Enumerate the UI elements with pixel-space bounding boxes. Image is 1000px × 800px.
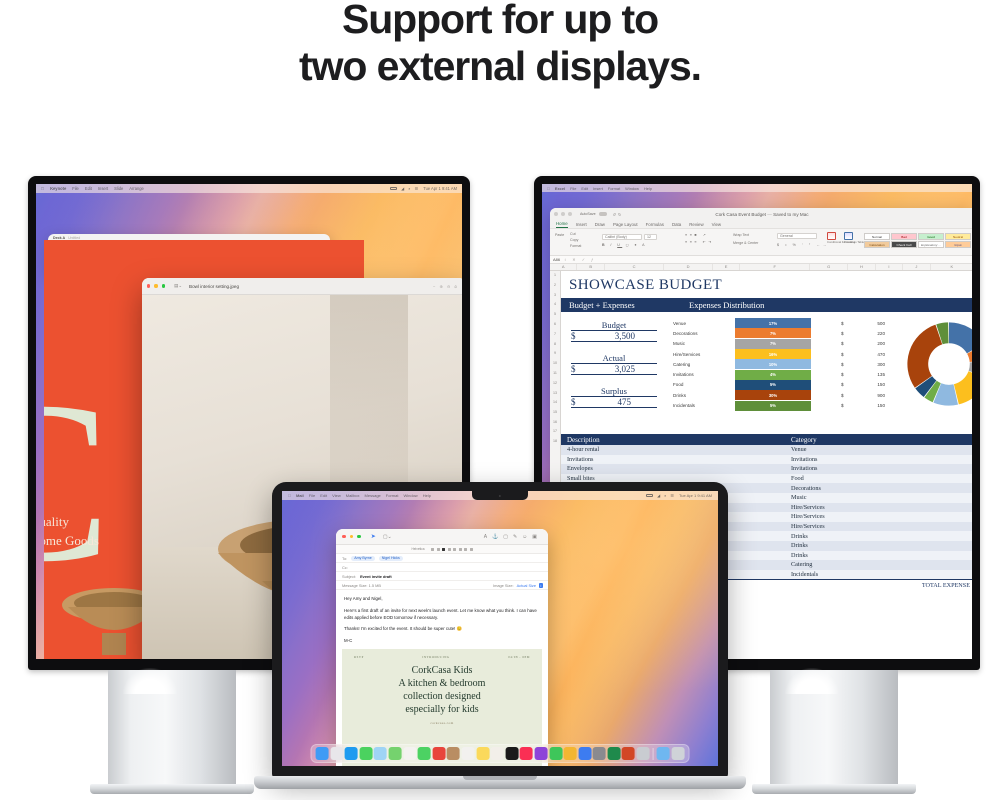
- invite-title-line-1: CorkCasa Kids: [342, 664, 542, 677]
- row-header-8[interactable]: 8: [550, 340, 560, 350]
- cell-style-input[interactable]: Input: [945, 241, 971, 248]
- menu-item-help[interactable]: Help: [644, 186, 652, 191]
- battery-icon[interactable]: [646, 494, 653, 498]
- column-header-k[interactable]: K: [931, 264, 972, 270]
- distribution-bar: 4%: [735, 370, 811, 380]
- menu-item-window[interactable]: Window: [625, 186, 639, 191]
- cell-category: Drinks: [791, 542, 972, 549]
- distribution-bar: 10%: [735, 359, 811, 369]
- row-header-18[interactable]: 18: [550, 437, 560, 447]
- distribution-category-label: Drinks: [673, 393, 735, 398]
- calendar-icon[interactable]: [432, 747, 445, 760]
- minimize-icon[interactable]: [561, 212, 565, 216]
- wifi-icon[interactable]: ◢: [401, 186, 404, 191]
- menu-item-message[interactable]: Message: [365, 493, 381, 498]
- table-header-row: Description Category: [561, 434, 972, 445]
- actual-currency: $: [571, 364, 576, 374]
- mail-size-row: Message Size: 1.5 MB Image Size: Actual …: [336, 581, 548, 590]
- preview-toolbar-icons[interactable]: −⊕⊖⍝: [433, 284, 461, 289]
- wifi-icon[interactable]: ◢: [657, 493, 660, 498]
- invite-title-line-2: A kitchen & bedroom: [342, 677, 542, 690]
- cell-category: Hire/Services: [791, 523, 972, 530]
- maps-icon[interactable]: [389, 747, 402, 760]
- mail-closing: Thanks! I'm excited for the event. It sh…: [344, 626, 540, 633]
- row-header-14[interactable]: 14: [550, 398, 560, 408]
- conditional-formatting-icon[interactable]: [827, 232, 836, 240]
- maximize-icon[interactable]: [162, 284, 165, 287]
- column-header-g[interactable]: G: [810, 264, 848, 270]
- column-headers[interactable]: A B C D E F G H I J K: [550, 264, 972, 271]
- column-header-i[interactable]: I: [876, 264, 903, 270]
- band-budget-expenses: Budget + Expenses: [569, 300, 689, 310]
- actual-value-row[interactable]: $ 3,025: [571, 364, 657, 375]
- budget-currency: $: [571, 331, 576, 341]
- distribution-amount: $470: [841, 352, 885, 357]
- cell-style-bad[interactable]: Bad: [891, 233, 917, 240]
- invite-url: corkcasa.com: [342, 721, 542, 725]
- distribution-amount: $150: [841, 382, 885, 387]
- column-category: Category: [791, 436, 972, 444]
- menu-item-format[interactable]: Format: [608, 186, 620, 191]
- distribution-category-label: Hire/Services: [673, 352, 735, 357]
- tab-page-layout[interactable]: Page Layout: [613, 222, 638, 227]
- quick-access-toolbar[interactable]: AutoSave ↺↻: [550, 212, 623, 217]
- mail-greeting: Hey Amy and Nigel,: [344, 596, 540, 603]
- font-select[interactable]: Helvetica: [411, 547, 424, 551]
- conditional-formatting-label[interactable]: Conditional Formatting: [827, 241, 841, 244]
- sidebar-icon[interactable]: ▤⌄: [174, 283, 182, 289]
- text-color-icon[interactable]: [442, 548, 445, 551]
- table-row[interactable]: InvitationsInvitations: [561, 455, 972, 465]
- menu-item-app[interactable]: Keynote: [50, 186, 66, 191]
- cell-category: Food: [791, 475, 972, 482]
- copy-label[interactable]: Copy: [570, 238, 581, 242]
- menu-item-edit[interactable]: Edit: [320, 493, 327, 498]
- image-size-stepper[interactable]: ↕: [539, 583, 543, 588]
- poster-tagline-line-2: Home Goods: [44, 532, 99, 551]
- dock-separator: [653, 748, 654, 760]
- distribution-row: Hire/Services16%$470: [673, 349, 885, 359]
- align-top-buttons[interactable]: ≡≡■ ↗: [685, 233, 714, 237]
- image-size-label: Image Size:: [493, 583, 514, 588]
- podcasts-icon[interactable]: [534, 747, 547, 760]
- right-menu-bar:  Excel File Edit Insert Format Window H…: [542, 184, 972, 192]
- appstore-icon[interactable]: [578, 747, 591, 760]
- cc-label: Cc:: [342, 565, 348, 570]
- budget-value-row[interactable]: $ 3,500: [571, 331, 657, 342]
- expenses-donut-chart: [901, 316, 972, 412]
- bold-icon[interactable]: [431, 548, 434, 551]
- menu-bar-clock: Tue Apr 1 9:41 AM: [423, 186, 457, 191]
- close-icon[interactable]: [147, 284, 150, 287]
- distribution-category-label: Incidentals: [673, 403, 735, 408]
- expenses-distribution-chart: Venue17%$500Decorations7%$220Music7%$200…: [673, 318, 885, 411]
- maximize-icon[interactable]: [357, 535, 361, 539]
- menu-item-file[interactable]: File: [72, 186, 79, 191]
- column-header-j[interactable]: J: [903, 264, 930, 270]
- excel-icon[interactable]: [607, 747, 620, 760]
- right-display-stand-foot: [752, 784, 916, 794]
- distribution-row: Drinks30%$900: [673, 390, 885, 400]
- distribution-bar: 5%: [735, 380, 811, 390]
- cell-style-good[interactable]: Good: [918, 233, 944, 240]
- tab-formulas[interactable]: Formulas: [646, 222, 664, 227]
- mail-to-field[interactable]: To: Amy Byrne Nigel Hicks: [336, 554, 548, 563]
- donut-slice: [907, 325, 942, 388]
- maximize-icon[interactable]: [568, 212, 572, 216]
- preview-title-bar[interactable]: ▤⌄ Bowl interior setting.jpeg −⊕⊖⍝: [142, 278, 462, 295]
- image-size-value[interactable]: Actual Size: [517, 583, 536, 588]
- paste-label[interactable]: Paste: [555, 233, 564, 237]
- indent-icon[interactable]: [470, 548, 473, 551]
- tab-insert[interactable]: Insert: [576, 222, 587, 227]
- cell-description: Envelopes: [561, 465, 791, 472]
- template-icon[interactable]: ▢⌄: [383, 534, 392, 540]
- subject-label: Subject:: [342, 574, 356, 579]
- autosave-toggle[interactable]: [599, 212, 607, 216]
- distribution-row: Decorations7%$220: [673, 328, 885, 338]
- cell-style-neutral[interactable]: Neutral: [945, 233, 971, 240]
- budget-amount: 3,500: [615, 331, 635, 341]
- menu-item-insert[interactable]: Insert: [98, 186, 108, 191]
- invite-title-line-4: especially for kids: [342, 703, 542, 716]
- menu-item-view[interactable]: View: [332, 493, 341, 498]
- mail-paragraph: Here's a first draft of an invite for ne…: [344, 608, 540, 622]
- messages-icon[interactable]: [359, 747, 372, 760]
- column-header-f[interactable]: F: [740, 264, 810, 270]
- subject-value[interactable]: Event invite draft: [360, 574, 392, 579]
- menu-item-excel[interactable]: Excel: [555, 186, 565, 191]
- cell-style-normal[interactable]: Normal: [864, 233, 890, 240]
- row-header-15[interactable]: 15: [550, 408, 560, 418]
- search-icon[interactable]: ⌕: [408, 186, 410, 191]
- cell-category: Incidentals: [791, 571, 972, 578]
- row-header-6[interactable]: 6: [550, 320, 560, 330]
- distribution-amount: $500: [841, 321, 885, 326]
- donut-slice: [949, 322, 972, 353]
- align-left-icon[interactable]: [453, 548, 456, 551]
- control-center-icon[interactable]: ☰: [670, 493, 674, 498]
- autosave-label[interactable]: AutoSave: [580, 212, 596, 216]
- sheet-section-band: Budget + Expenses Expenses Distribution: [561, 298, 972, 312]
- powerpoint-icon[interactable]: [622, 747, 635, 760]
- surplus-label: Surplus: [571, 386, 657, 397]
- menu-item-window[interactable]: Window: [403, 493, 417, 498]
- tab-review[interactable]: Review: [689, 222, 703, 227]
- distribution-amount: $150: [841, 403, 885, 408]
- search-icon[interactable]: ⌕: [664, 493, 666, 498]
- format-as-table-icon[interactable]: [844, 232, 853, 240]
- row-header-7[interactable]: 7: [550, 330, 560, 340]
- formula-bar[interactable]: A86 ↕ ✕ ✓ ƒ: [550, 256, 972, 264]
- cell-style-explanatory[interactable]: Explanatory ...: [918, 241, 944, 248]
- reminders-icon[interactable]: [462, 747, 475, 760]
- mail-toolbar[interactable]: ➤ ▢⌄ A⚓▢✎☺▣: [336, 529, 548, 545]
- mail-cc-field[interactable]: Cc:: [336, 563, 548, 572]
- music-icon[interactable]: [520, 747, 533, 760]
- menu-item-mail[interactable]: Mail: [296, 493, 304, 498]
- distribution-category-label: Invitations: [673, 372, 735, 377]
- menu-item-slide[interactable]: Slide: [114, 186, 123, 191]
- numbers-icon[interactable]: [549, 747, 562, 760]
- distribution-row: Catering10%$300: [673, 359, 885, 369]
- distribution-row: Incidentals5%$150: [673, 400, 885, 410]
- distribution-category-label: Venue: [673, 321, 735, 326]
- row-header-13[interactable]: 13: [550, 389, 560, 399]
- font-size-select[interactable]: 12: [647, 235, 656, 239]
- format-painter-label[interactable]: Format: [570, 244, 581, 248]
- distribution-row: Food5%$150: [673, 380, 885, 390]
- table-row[interactable]: 4-hour rentalVenue: [561, 445, 972, 455]
- font-style-buttons[interactable]: B I U ◻ ● A: [602, 243, 647, 247]
- cut-label[interactable]: Cut: [570, 232, 581, 236]
- excel-ribbon-tabs[interactable]: Home Insert Draw Page Layout Formulas Da…: [550, 220, 972, 229]
- invite-title-line-3: collection designed: [342, 690, 542, 703]
- distribution-bar: 17%: [735, 318, 811, 328]
- freeform-icon[interactable]: [491, 747, 504, 760]
- invite-headline: CorkCasa Kids A kitchen & bedroom collec…: [342, 664, 542, 716]
- notes-icon[interactable]: [476, 747, 489, 760]
- band-expenses-distribution: Expenses Distribution: [689, 300, 764, 310]
- column-description: Description: [561, 436, 791, 444]
- distribution-bar: 16%: [735, 349, 811, 359]
- distribution-row: Music7%$200: [673, 339, 885, 349]
- cell-style-calculation[interactable]: Calculation: [864, 241, 890, 248]
- undo-redo-icons[interactable]: ↺↻: [613, 212, 624, 217]
- right-display-stand-neck: [770, 670, 898, 788]
- row-header-9[interactable]: 9: [550, 349, 560, 359]
- apple-menu-icon[interactable]: : [547, 186, 550, 191]
- distribution-category-label: Music: [673, 341, 735, 346]
- headline-line-2: two external displays.: [0, 43, 1000, 90]
- laptop-lid:  Mail File Edit View Mailbox Message Fo…: [272, 482, 728, 778]
- left-menu-bar:  Keynote File Edit Insert Slide Arrange…: [36, 184, 462, 193]
- underline-icon[interactable]: [448, 548, 451, 551]
- photos-icon[interactable]: [403, 747, 416, 760]
- mail-format-bar[interactable]: Helvetica: [336, 545, 548, 554]
- cell-description: Invitations: [561, 456, 791, 463]
- format-as-table-label[interactable]: Format as Table: [844, 241, 858, 244]
- mail-signature: M-C: [344, 638, 540, 645]
- menu-item-file[interactable]: File: [309, 493, 315, 498]
- cell-style-check-cell[interactable]: Check Cell: [891, 241, 917, 248]
- left-display-stand-neck: [108, 670, 236, 788]
- column-header-b[interactable]: B: [577, 264, 604, 270]
- distribution-row: Venue17%$500: [673, 318, 885, 328]
- tab-view[interactable]: View: [712, 222, 721, 227]
- downloads-icon[interactable]: [657, 747, 670, 760]
- preview-file-name: Bowl interior setting.jpeg: [189, 284, 239, 289]
- row-header-5[interactable]: 5: [550, 310, 560, 320]
- distribution-bar: 5%: [735, 401, 811, 411]
- formula-bar-icons[interactable]: ↕ ✕ ✓ ƒ: [564, 257, 596, 262]
- distribution-amount: $220: [841, 331, 885, 336]
- window-traffic-lights[interactable]: [336, 535, 361, 539]
- battery-icon[interactable]: [390, 187, 397, 191]
- pages-icon[interactable]: [564, 747, 577, 760]
- cell-category: Drinks: [791, 552, 972, 559]
- distribution-amount: $135: [841, 372, 885, 377]
- close-icon[interactable]: [342, 535, 346, 539]
- mail-icon[interactable]: [374, 747, 387, 760]
- cell-category: Invitations: [791, 456, 972, 463]
- surplus-amount: 475: [618, 397, 632, 407]
- printer-icon[interactable]: [637, 747, 650, 760]
- headline-line-1: Support for up to: [342, 0, 658, 42]
- row-header-1[interactable]: 1: [550, 271, 560, 281]
- mail-subject-field[interactable]: Subject: Event invite draft: [336, 572, 548, 581]
- cell-category: Venue: [791, 446, 972, 453]
- distribution-category-label: Catering: [673, 362, 735, 367]
- actual-label: Actual: [571, 353, 657, 364]
- minimize-icon[interactable]: [154, 284, 157, 287]
- cell-category: Catering: [791, 561, 972, 568]
- number-format-buttons[interactable]: $ • % ′ ″ ←→: [777, 243, 829, 247]
- distribution-category-label: Decorations: [673, 331, 735, 336]
- distribution-amount: $900: [841, 393, 885, 398]
- number-format-select[interactable]: General: [780, 234, 816, 238]
- invite-introducing: INTRODUCING: [422, 655, 449, 659]
- row-header-16[interactable]: 16: [550, 418, 560, 428]
- column-header-d[interactable]: D: [664, 264, 713, 270]
- recipient-chip-2[interactable]: Nigel Hicks: [379, 556, 403, 561]
- menu-item-arrange[interactable]: Arrange: [129, 186, 144, 191]
- table-row[interactable]: EnvelopesInvitations: [561, 464, 972, 474]
- cell-description: 4-hour rental: [561, 446, 791, 453]
- cell-category: Decorations: [791, 485, 972, 492]
- cell-category: Music: [791, 494, 972, 501]
- list-icon[interactable]: [464, 548, 467, 551]
- sheet-title: SHOWCASE BUDGET: [561, 271, 972, 298]
- excel-title-bar[interactable]: AutoSave ↺↻ Cork Casa Event Budget — Sav…: [550, 208, 972, 220]
- column-header-c[interactable]: C: [605, 264, 664, 270]
- distribution-category-label: Food: [673, 382, 735, 387]
- column-header-a[interactable]: A: [550, 264, 577, 270]
- row-header-17[interactable]: 17: [550, 427, 560, 437]
- excel-ribbon[interactable]: Paste Cut Copy Format Calibri (Body) 12 …: [550, 229, 972, 256]
- trash-icon[interactable]: [671, 747, 684, 760]
- surplus-currency: $: [571, 397, 576, 407]
- control-center-icon[interactable]: ☰: [415, 186, 419, 191]
- distribution-bar: 7%: [735, 328, 811, 338]
- distribution-amount: $300: [841, 362, 885, 367]
- distribution-amount: $200: [841, 341, 885, 346]
- message-size: Message Size: 1.5 MB: [342, 583, 381, 588]
- facetime-icon[interactable]: [418, 747, 431, 760]
- invite-date: 04/08 - 6PM: [508, 655, 530, 659]
- apple-menu-icon[interactable]: : [288, 493, 291, 498]
- send-icon[interactable]: ➤: [371, 533, 376, 540]
- to-label: To:: [342, 556, 347, 561]
- close-icon[interactable]: [554, 212, 558, 216]
- window-traffic-lights[interactable]: [142, 284, 165, 287]
- distribution-bar: 7%: [735, 339, 811, 349]
- distribution-row: Invitations4%$135: [673, 369, 885, 379]
- excel-document-title: Cork Casa Event Budget — Saved to my Mac: [715, 212, 808, 217]
- settings-icon[interactable]: [593, 747, 606, 760]
- budget-label: Budget: [571, 320, 657, 331]
- apple-menu-icon[interactable]: : [41, 186, 44, 191]
- column-header-e[interactable]: E: [713, 264, 740, 270]
- tab-data[interactable]: Data: [672, 222, 681, 227]
- name-box[interactable]: A86: [553, 257, 560, 262]
- safari-icon[interactable]: [345, 747, 358, 760]
- row-header-4[interactable]: 4: [550, 300, 560, 310]
- left-display-stand-foot: [90, 784, 254, 794]
- align-bottom-buttons[interactable]: ≡≡≡ ⇤⇥: [685, 240, 714, 244]
- tv-icon[interactable]: [505, 747, 518, 760]
- wrap-text-button[interactable]: Wrap Text: [733, 233, 758, 237]
- row-header-12[interactable]: 12: [550, 379, 560, 389]
- mail-compose-window[interactable]: ➤ ▢⌄ A⚓▢✎☺▣ Helvetica To:: [336, 529, 548, 766]
- dock[interactable]: [311, 744, 690, 763]
- tab-home[interactable]: Home: [556, 221, 568, 228]
- row-header-11[interactable]: 11: [550, 369, 560, 379]
- contacts-icon[interactable]: [447, 747, 460, 760]
- distribution-bar: 30%: [735, 390, 811, 400]
- cell-category: Hire/Services: [791, 504, 972, 511]
- row-header-3[interactable]: 3: [550, 291, 560, 301]
- launchpad-icon[interactable]: [330, 747, 343, 760]
- merge-center-button[interactable]: Merge & Center: [733, 241, 758, 245]
- column-header-h[interactable]: H: [848, 264, 875, 270]
- mail-toolbar-actions[interactable]: A⚓▢✎☺▣: [484, 534, 542, 540]
- menu-item-format[interactable]: Format: [386, 493, 399, 498]
- macbook-laptop:  Mail File Edit View Mailbox Message Fo…: [272, 482, 728, 800]
- cell-category: Hire/Services: [791, 513, 972, 520]
- align-center-icon[interactable]: [459, 548, 462, 551]
- finder-icon[interactable]: [316, 747, 329, 760]
- budget-summary: Budget $ 3,500 Actual $ 3,025 Surplus: [571, 320, 657, 408]
- font-name-select[interactable]: Calibri (Body): [605, 235, 641, 239]
- camera-notch: [472, 491, 528, 500]
- menu-item-help[interactable]: Help: [423, 493, 431, 498]
- tab-draw[interactable]: Draw: [595, 222, 605, 227]
- laptop-screen:  Mail File Edit View Mailbox Message Fo…: [282, 491, 718, 766]
- row-header-2[interactable]: 2: [550, 281, 560, 291]
- poster-tagline: Quality Home Goods: [44, 513, 99, 551]
- menu-item-file[interactable]: File: [570, 186, 576, 191]
- menu-bar-clock: Tue Apr 1 9:41 AM: [679, 493, 712, 498]
- actual-amount: 3,025: [615, 364, 635, 374]
- row-header-10[interactable]: 10: [550, 359, 560, 369]
- menu-item-mailbox[interactable]: Mailbox: [346, 493, 360, 498]
- menu-item-insert[interactable]: Insert: [593, 186, 603, 191]
- mail-body[interactable]: Hey Amy and Nigel, Here's a first draft …: [336, 590, 548, 645]
- cell-category: Invitations: [791, 465, 972, 472]
- menu-item-edit[interactable]: Edit: [581, 186, 588, 191]
- cell-category: Drinks: [791, 533, 972, 540]
- poster-tagline-line-1: Quality: [44, 513, 99, 532]
- page-title: Support for up to two external displays.: [0, 0, 1000, 89]
- italic-icon[interactable]: [437, 548, 440, 551]
- invite-eyebrow: RSVP INTRODUCING 04/08 - 6PM: [342, 649, 542, 659]
- recipient-chip-1[interactable]: Amy Byrne: [351, 556, 375, 561]
- minimize-icon[interactable]: [350, 535, 354, 539]
- excel-saved-status: Saved to my Mac: [773, 212, 809, 217]
- laptop-base: [254, 776, 746, 789]
- surplus-value-row[interactable]: $ 475: [571, 397, 657, 408]
- invite-rsvp: RSVP: [354, 655, 364, 659]
- menu-item-edit[interactable]: Edit: [85, 186, 92, 191]
